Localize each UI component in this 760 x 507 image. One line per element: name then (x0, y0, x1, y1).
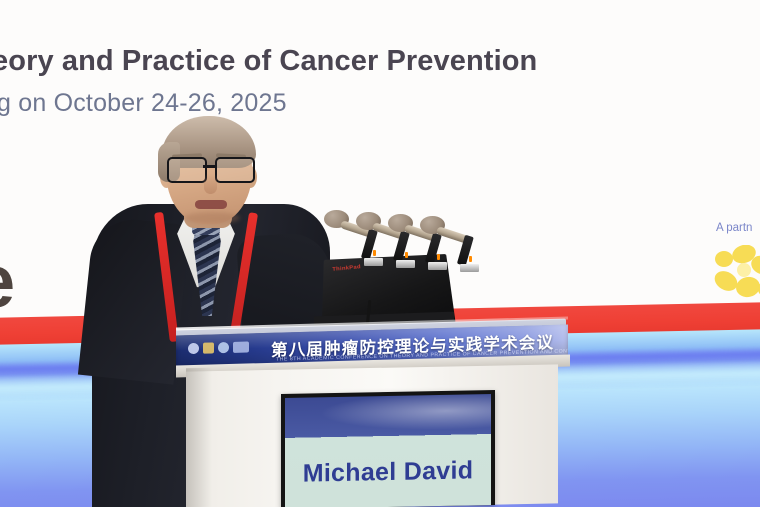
lectern-front-shadow (186, 368, 212, 507)
organizer-logo-2-icon (203, 342, 214, 353)
lectern-banner-logos (188, 341, 249, 354)
organizer-logo-3-icon (218, 342, 229, 353)
organizer-logo-4-icon (233, 341, 249, 352)
lectern: 第八届肿瘤防控理论与实践学术会议 THE 8TH ACADEMIC CONFER… (0, 0, 760, 507)
speaker-name-monitor: Michael David (281, 390, 495, 507)
monitor-screen-glare (285, 394, 491, 438)
organizer-logo-1-icon (188, 343, 199, 354)
monitor-speaker-name: Michael David (285, 456, 491, 489)
monitor-screen: Michael David (285, 394, 491, 507)
conference-photo: ce on Theory and Practice of Cancer Prev… (0, 0, 760, 507)
